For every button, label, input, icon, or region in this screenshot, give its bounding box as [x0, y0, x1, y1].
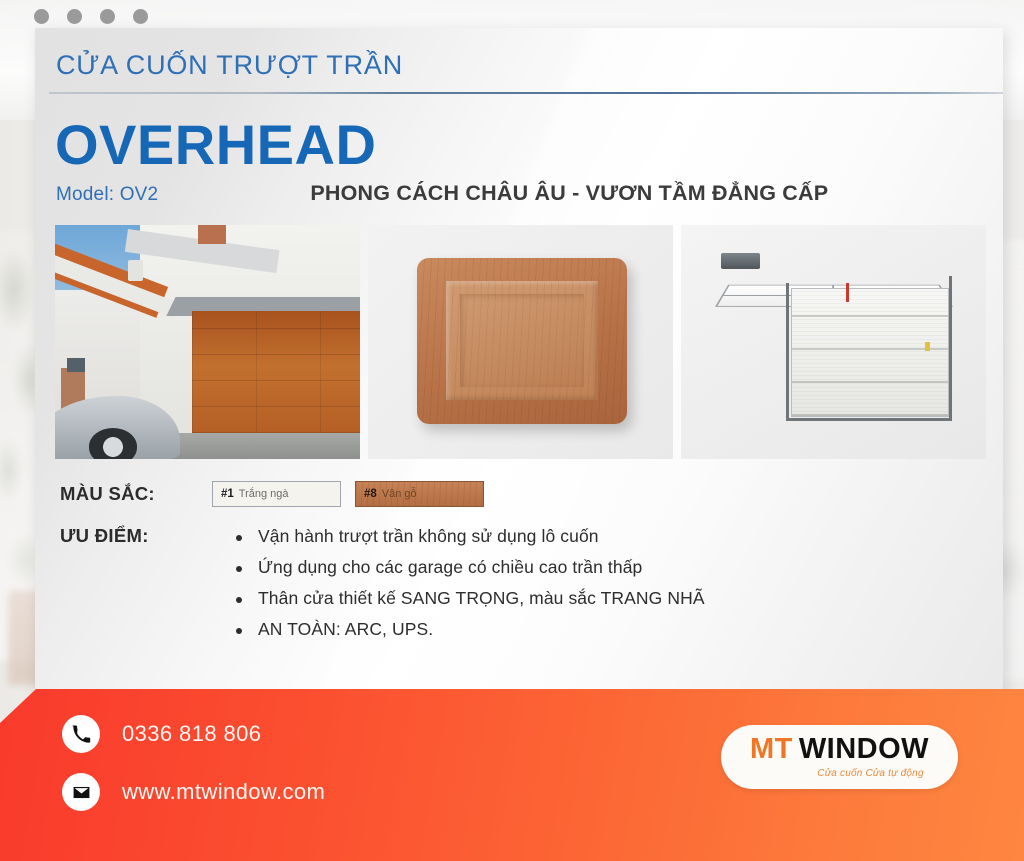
swatch-name-1: Trắng ngà: [239, 488, 289, 500]
wood-panel-mid: [446, 281, 598, 401]
phone-number: 0336 818 806: [122, 721, 261, 747]
window-dot-2[interactable]: [67, 9, 82, 24]
advantages-row: ƯU ĐIỂM: Vận hành trượt trần không sử dụ…: [52, 525, 986, 650]
page-kicker: CỬA CUỐN TRƯỢT TRẦN: [52, 28, 986, 81]
list-item: Vận hành trượt trần không sử dụng lô cuố…: [228, 526, 705, 547]
swatch-name-2: Vân gỗ: [382, 488, 417, 500]
small-window: [67, 358, 85, 372]
logo-wordmark: MTWINDOW: [750, 735, 929, 764]
window-dot-4[interactable]: [133, 9, 148, 24]
colors-label: MÀU SẮC:: [60, 483, 212, 505]
swatch-code-1: #1: [221, 488, 234, 500]
window-controls: [34, 9, 148, 24]
model-label: Model: OV2: [56, 184, 158, 206]
red-marker: [846, 283, 849, 302]
contact-phone-row[interactable]: 0336 818 806: [62, 715, 325, 753]
photo-wood-panel[interactable]: [368, 225, 673, 459]
color-swatch-ivory[interactable]: #1 Trắng ngà: [212, 481, 341, 507]
model-row: Model: OV2 PHONG CÁCH CHÂU ÂU - VƯƠN TẦM…: [52, 181, 986, 206]
page-title: OVERHEAD: [52, 116, 986, 175]
motor-unit: [721, 253, 761, 269]
window-dot-1[interactable]: [34, 9, 49, 24]
car-wheel: [89, 428, 138, 458]
wood-panel-inner: [460, 294, 584, 387]
logo-mt: MT: [750, 733, 793, 765]
contact-website-row[interactable]: www.mtwindow.com: [62, 773, 325, 811]
logo-tagline: Cửa cuốn Cửa tự động: [817, 768, 923, 779]
door-frame-right: [949, 276, 952, 421]
advantages-list: Vận hành trượt trần không sử dụng lô cuố…: [228, 526, 705, 650]
photo-overhead-mechanism[interactable]: [681, 225, 986, 459]
yellow-marker: [925, 342, 930, 351]
tagline: PHONG CÁCH CHÂU ÂU - VƯƠN TẦM ĐẲNG CẤP: [310, 181, 828, 206]
wood-panel-outer: [417, 258, 627, 424]
swatch-code-2: #8: [364, 488, 377, 500]
mail-icon: [62, 773, 100, 811]
advantages-label: ƯU ĐIỂM:: [60, 525, 212, 650]
logo-window: WINDOW: [799, 733, 929, 765]
contact-block: 0336 818 806 www.mtwindow.com: [62, 715, 325, 831]
footer-contact-bar: 0336 818 806 www.mtwindow.com MTWINDOW C…: [0, 689, 1024, 861]
product-card: CỬA CUỐN TRƯỢT TRẦN OVERHEAD Model: OV2 …: [35, 28, 1003, 710]
brand-logo[interactable]: MTWINDOW Cửa cuốn Cửa tự động: [721, 725, 958, 789]
door-frame-bottom: [786, 418, 951, 421]
product-gallery: [52, 225, 986, 459]
website-url: www.mtwindow.com: [122, 779, 325, 805]
list-item: Thân cửa thiết kế SANG TRỌNG, màu sắc TR…: [228, 588, 705, 609]
color-swatches: #1 Trắng ngà #8 Vân gỗ: [212, 481, 484, 507]
brick-accent: [198, 225, 225, 244]
color-swatch-wood[interactable]: #8 Vân gỗ: [355, 481, 484, 507]
list-item: AN TOÀN: ARC, UPS.: [228, 619, 705, 640]
colors-row: MÀU SẮC: #1 Trắng ngà #8 Vân gỗ: [52, 481, 986, 507]
window-dot-3[interactable]: [100, 9, 115, 24]
phone-icon: [62, 715, 100, 753]
photo-garage-house[interactable]: [55, 225, 360, 459]
wall-lamp: [128, 260, 143, 281]
door-frame-left: [786, 283, 789, 421]
sectional-door-leaf: [791, 288, 950, 417]
list-item: Ứng dụng cho các garage có chiều cao trầ…: [228, 557, 705, 578]
header-divider: [49, 92, 1003, 94]
wooden-garage-door: [192, 311, 360, 433]
